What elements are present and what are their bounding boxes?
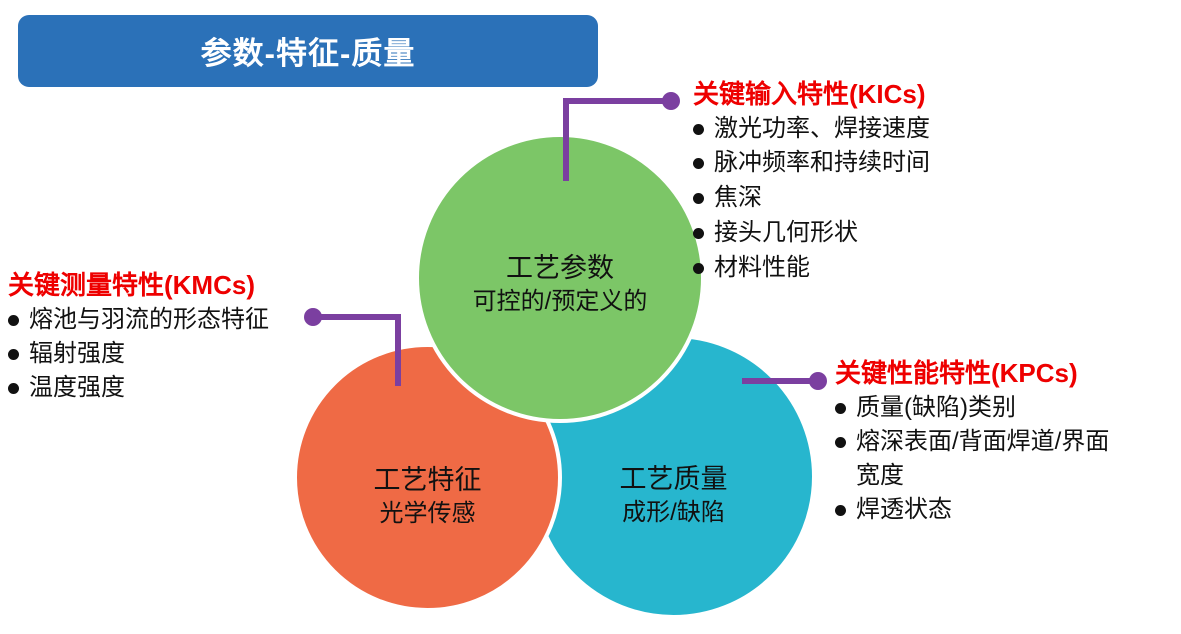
- bullet-icon: [835, 403, 846, 414]
- list-item: 温度强度: [8, 371, 269, 405]
- list-item-label: 接头几何形状: [714, 219, 858, 246]
- circle-title-process-quality: 工艺质量: [620, 464, 728, 496]
- list-item-label: 宽度: [856, 462, 904, 489]
- bullet-icon: [835, 437, 846, 448]
- callout-list-kmcs: 熔池与羽流的形态特征 辐射强度 温度强度: [8, 303, 269, 405]
- list-item-label: 质量(缺陷)类别: [856, 394, 1016, 421]
- list-item-continuation: 宽度: [835, 459, 1109, 493]
- list-item-label: 材料性能: [714, 254, 810, 281]
- list-item-label: 脉冲频率和持续时间: [714, 149, 930, 176]
- list-item: 焊透状态: [835, 493, 1109, 527]
- diagram-canvas: 参数-特征-质量 工艺参数 可控的/预定义的 工艺特征 光学传感 工艺质量 成形…: [0, 0, 1181, 634]
- connector-dot-kmcs: [304, 308, 322, 326]
- bullet-icon: [8, 349, 19, 360]
- bullet-icon: [8, 383, 19, 394]
- bullet-icon: [693, 193, 704, 204]
- callout-heading-kics: 关键输入特性(KICs): [693, 79, 930, 110]
- callout-kmcs: 关键测量特性(KMCs) 熔池与羽流的形态特征 辐射强度 温度强度: [8, 270, 269, 405]
- list-item-label: 熔池与羽流的形态特征: [29, 306, 269, 333]
- callout-heading-kmcs: 关键测量特性(KMCs): [8, 270, 269, 301]
- list-item-label: 焦深: [714, 184, 762, 211]
- list-item: 熔深表面/背面焊道/界面: [835, 425, 1109, 459]
- list-item: 焦深: [693, 181, 930, 216]
- callout-kpcs: 关键性能特性(KPCs) 质量(缺陷)类别 熔深表面/背面焊道/界面 宽度 焊透…: [835, 358, 1109, 527]
- list-item: 激光功率、焊接速度: [693, 112, 930, 147]
- list-item: 接头几何形状: [693, 216, 930, 251]
- bullet-icon: [693, 124, 704, 135]
- list-item: 质量(缺陷)类别: [835, 391, 1109, 425]
- venn-circle-process-parameters: 工艺参数 可控的/预定义的: [415, 133, 705, 423]
- bullet-icon: [8, 315, 19, 326]
- page-title: 参数-特征-质量: [201, 28, 416, 73]
- title-banner: 参数-特征-质量: [18, 15, 598, 87]
- list-item: 辐射强度: [8, 337, 269, 371]
- circle-title-process-features: 工艺特征: [374, 465, 482, 497]
- bullet-icon: [693, 158, 704, 169]
- connector-dot-kics: [662, 92, 680, 110]
- bullet-icon: [693, 263, 704, 274]
- bullet-icon: [835, 505, 846, 516]
- callout-list-kics: 激光功率、焊接速度 脉冲频率和持续时间 焦深 接头几何形状 材料性能: [693, 112, 930, 286]
- list-item: 熔池与羽流的形态特征: [8, 303, 269, 337]
- circle-subtitle-process-quality: 成形/缺陷: [622, 499, 725, 528]
- callout-heading-kpcs: 关键性能特性(KPCs): [835, 358, 1109, 389]
- list-item-label: 辐射强度: [29, 340, 125, 367]
- callout-kics: 关键输入特性(KICs) 激光功率、焊接速度 脉冲频率和持续时间 焦深 接头几何…: [693, 79, 930, 286]
- circle-subtitle-process-parameters: 可控的/预定义的: [473, 288, 648, 317]
- list-item-label: 熔深表面/背面焊道/界面: [856, 428, 1109, 455]
- circle-title-process-parameters: 工艺参数: [506, 253, 614, 285]
- callout-list-kpcs: 质量(缺陷)类别 熔深表面/背面焊道/界面 宽度 焊透状态: [835, 391, 1109, 527]
- list-item-label: 焊透状态: [856, 496, 952, 523]
- list-item-label: 激光功率、焊接速度: [714, 115, 930, 142]
- list-item: 脉冲频率和持续时间: [693, 146, 930, 181]
- connector-dot-kpcs: [809, 372, 827, 390]
- circle-subtitle-process-features: 光学传感: [380, 500, 476, 529]
- bullet-icon: [693, 228, 704, 239]
- list-item-label: 温度强度: [29, 374, 125, 401]
- list-item: 材料性能: [693, 251, 930, 286]
